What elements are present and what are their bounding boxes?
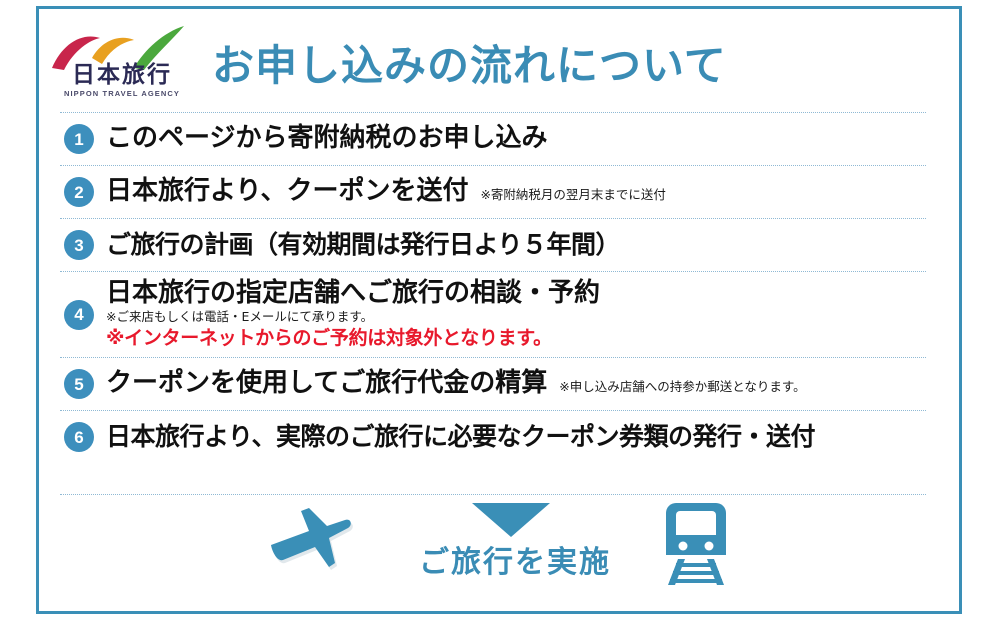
step-note-2: ※寄附納税月の翌月末までに送付: [480, 188, 665, 202]
step-text-5: クーポンを使用してご旅行代金の精算: [106, 369, 547, 399]
step-number-badge-3: 3: [64, 230, 94, 260]
train-icon: [660, 501, 732, 585]
footer-label: ご旅行を実施: [390, 537, 640, 581]
step-body-1: このページから寄附納税のお申し込み: [106, 124, 926, 154]
step-text-4: 日本旅行の指定店舗へご旅行の相談・予約: [106, 279, 600, 309]
step-row-4: 4 日本旅行の指定店舗へご旅行の相談・予約 ※ご来店もしくは電話・Eメールにて承…: [60, 271, 926, 357]
step-main-4: 日本旅行の指定店舗へご旅行の相談・予約: [106, 279, 926, 309]
step-number-badge-2: 2: [64, 177, 94, 207]
step-row-6: 6 日本旅行より、実際のご旅行に必要なクーポン券類の発行・送付: [60, 410, 926, 463]
step-row-5: 5 クーポンを使用してご旅行代金の精算 ※申し込み店舗への持参か郵送となります。: [60, 357, 926, 410]
step-text-1: このページから寄附納税のお申し込み: [106, 124, 547, 154]
steps-list: 1 このページから寄附納税のお申し込み 2 日本旅行より、クーポンを送付 ※寄附…: [60, 112, 926, 463]
footer: ご旅行を実施: [60, 494, 926, 603]
page-title: お申し込みの流れについて: [212, 32, 727, 93]
step-text-3: ご旅行の計画（有効期間は発行日より５年間）: [106, 231, 620, 260]
step-body-2: 日本旅行より、クーポンを送付 ※寄附納税月の翌月末までに送付: [106, 177, 926, 207]
step-note-5: ※申し込み店舗への持参か郵送となります。: [559, 380, 805, 394]
step-main-3: ご旅行の計画（有効期間は発行日より５年間）: [106, 231, 926, 260]
step-row-3: 3 ご旅行の計画（有効期間は発行日より５年間）: [60, 218, 926, 271]
step-number-badge-1: 1: [64, 124, 94, 154]
step-number-badge-6: 6: [64, 422, 94, 452]
step-warning-note-4: ※インターネットからのご予約は対象外となります。: [106, 327, 926, 351]
step-row-1: 1 このページから寄附納税のお申し込み: [60, 112, 926, 165]
step-main-1: このページから寄附納税のお申し込み: [106, 124, 926, 154]
header: 日本旅行 NIPPON TRAVEL AGENCY お申し込みの流れについて: [0, 18, 1000, 110]
step-main-5: クーポンを使用してご旅行代金の精算 ※申し込み店舗への持参か郵送となります。: [106, 369, 926, 399]
down-triangle-arrow-icon: [472, 503, 550, 537]
step-row-2: 2 日本旅行より、クーポンを送付 ※寄附納税月の翌月末までに送付: [60, 165, 926, 218]
nippon-travel-agency-logo: 日本旅行 NIPPON TRAVEL AGENCY: [48, 24, 196, 106]
step-sub-note-4: ※ご来店もしくは電話・Eメールにて承ります。: [106, 309, 926, 325]
step-body-4: 日本旅行の指定店舗へご旅行の相談・予約 ※ご来店もしくは電話・Eメールにて承りま…: [106, 279, 926, 351]
step-text-2: 日本旅行より、クーポンを送付: [106, 177, 468, 207]
step-main-2: 日本旅行より、クーポンを送付 ※寄附納税月の翌月末までに送付: [106, 177, 926, 207]
infographic-page: 日本旅行 NIPPON TRAVEL AGENCY お申し込みの流れについて 1…: [0, 0, 1000, 621]
airplane-icon: [265, 505, 355, 579]
step-number-badge-5: 5: [64, 369, 94, 399]
step-text-6: 日本旅行より、実際のご旅行に必要なクーポン券類の発行・送付: [106, 423, 815, 452]
step-body-3: ご旅行の計画（有効期間は発行日より５年間）: [106, 231, 926, 260]
step-number-badge-4: 4: [64, 300, 94, 330]
step-body-6: 日本旅行より、実際のご旅行に必要なクーポン券類の発行・送付: [106, 423, 926, 452]
logo-english-text: NIPPON TRAVEL AGENCY: [48, 90, 196, 98]
step-body-5: クーポンを使用してご旅行代金の精算 ※申し込み店舗への持参か郵送となります。: [106, 369, 926, 399]
step-main-6: 日本旅行より、実際のご旅行に必要なクーポン券類の発行・送付: [106, 423, 926, 452]
logo-japanese-text: 日本旅行: [54, 64, 190, 87]
